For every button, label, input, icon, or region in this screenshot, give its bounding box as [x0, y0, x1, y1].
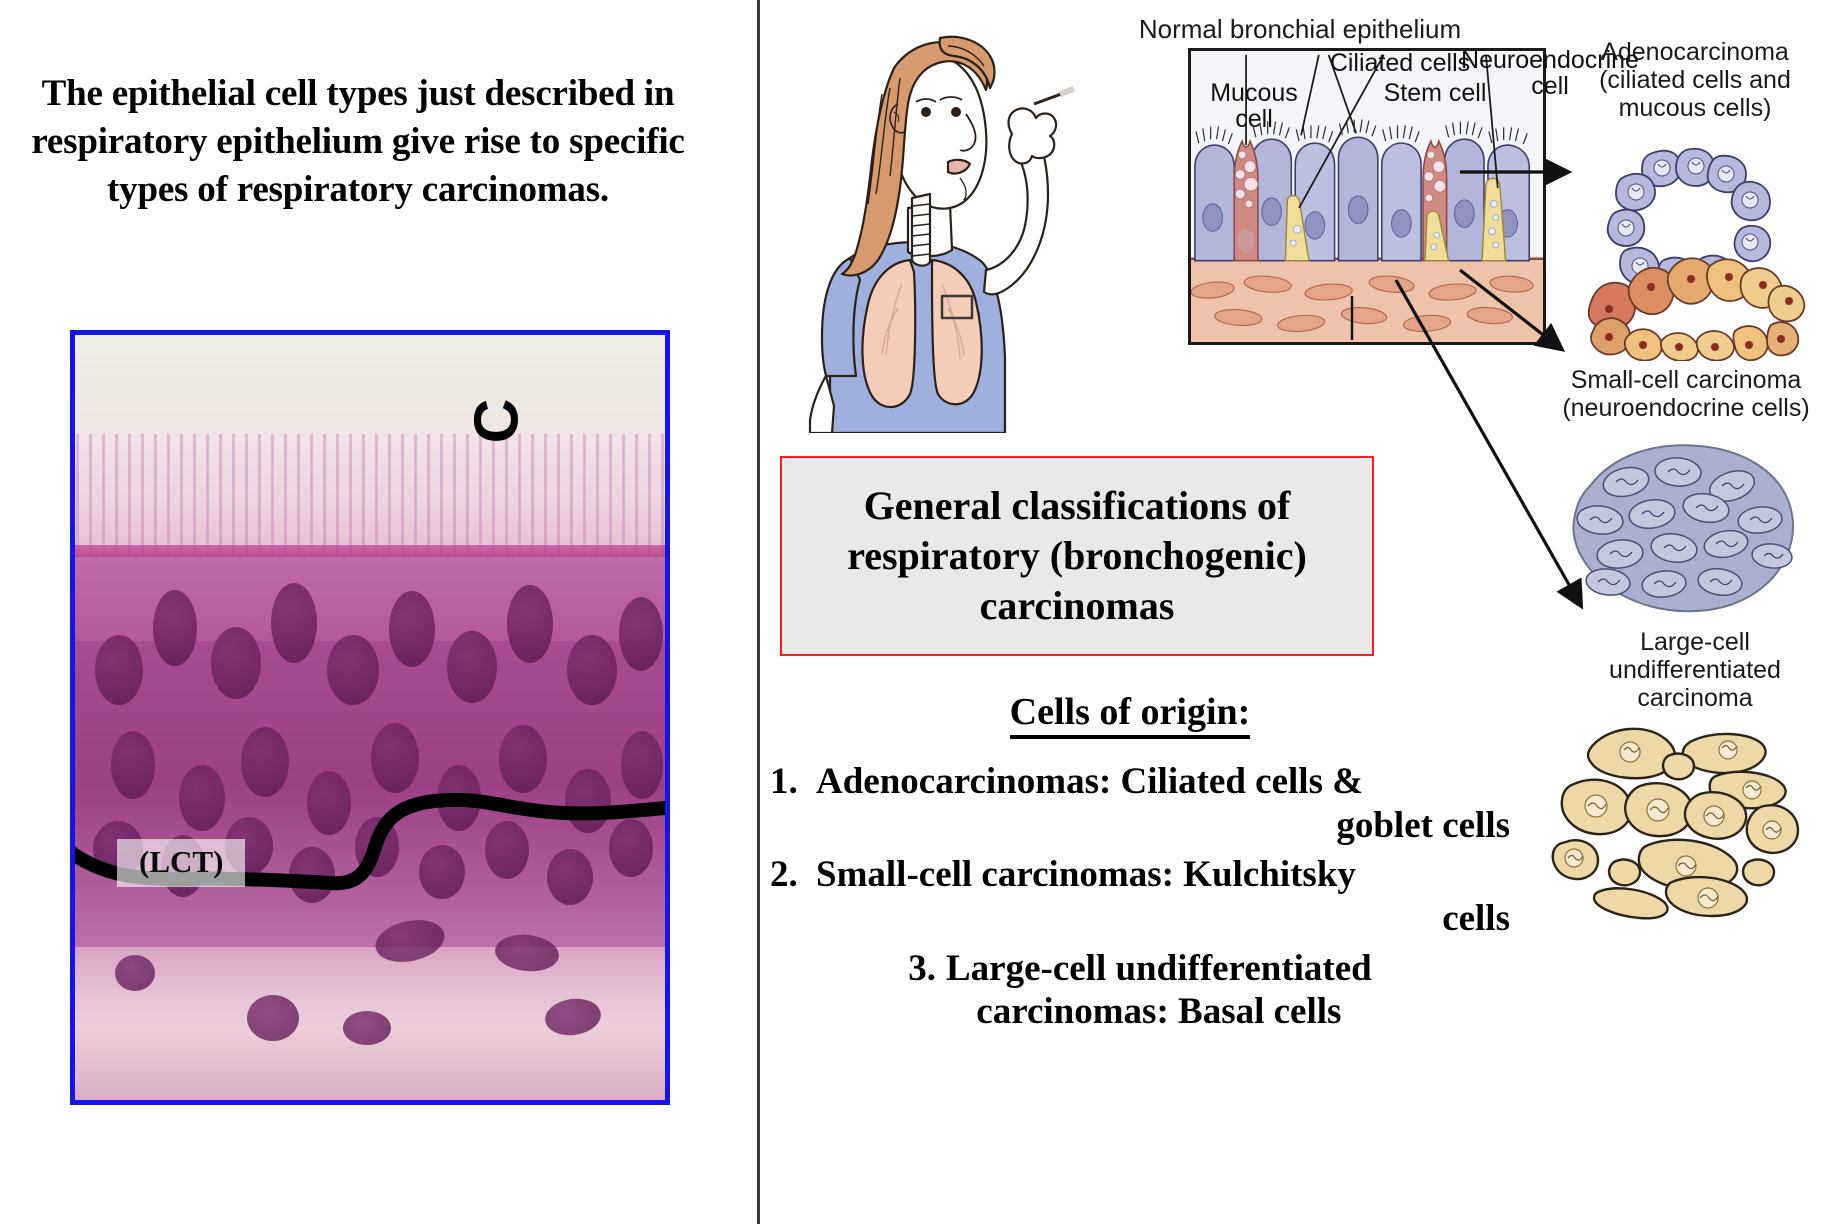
- smoking-woman-illustration: [790, 8, 1090, 433]
- adenocarcinoma-mucous-rosette: [1565, 253, 1815, 361]
- list-item-number: 2.: [770, 853, 816, 940]
- label-neuroendocrine-cell: Neuroendocrinecell: [1440, 47, 1660, 100]
- epithelial-nucleus: [307, 771, 351, 835]
- epithelial-nucleus: [95, 635, 143, 705]
- epithelial-nucleus: [565, 769, 611, 833]
- epithelial-nucleus: [271, 583, 317, 663]
- epithelial-nucleus: [389, 591, 435, 667]
- slide-canvas: The epithelial cell types just described…: [0, 0, 1822, 1224]
- epithelial-nucleus: [499, 725, 547, 793]
- lct-label: (LCT): [117, 839, 245, 887]
- list-item-line1: Large-cell undifferentiated: [946, 947, 1372, 991]
- lct-nucleus: [115, 955, 155, 991]
- cells-of-origin-list: 1. Adenocarcinomas: Ciliated cells & gob…: [770, 760, 1510, 1040]
- list-item: 2. Small-cell carcinomas: Kulchitsky cel…: [770, 853, 1510, 940]
- cells-of-origin-heading-text: Cells of origin:: [1010, 691, 1251, 739]
- list-item-number: 1.: [770, 760, 816, 847]
- epithelial-nucleus: [485, 821, 529, 879]
- epithelial-nucleus: [437, 765, 481, 831]
- label-large-cell-carcinoma: Large-cellundifferentiatedcarcinoma: [1590, 628, 1800, 712]
- list-item-line2: carcinomas: Basal cells: [946, 990, 1372, 1034]
- epithelial-nucleus: [179, 765, 225, 831]
- label-mucous-cell: Mucouscell: [1192, 80, 1316, 133]
- epithelial-nucleus: [211, 627, 261, 699]
- list-item-line2: cells: [816, 897, 1510, 941]
- classification-title-text: General classifications of respiratory (…: [782, 481, 1372, 631]
- epithelial-nucleus: [567, 635, 617, 705]
- micrograph-cilia-striations: [70, 434, 670, 556]
- epithelial-nucleus: [547, 849, 593, 905]
- cells-of-origin-heading: Cells of origin:: [780, 690, 1480, 734]
- list-item-number: 3.: [908, 947, 936, 1034]
- list-item-line2: goblet cells: [816, 804, 1510, 848]
- epithelial-nucleus: [241, 727, 289, 797]
- label-small-cell-carcinoma: Small-cell carcinoma(neuroendocrine cell…: [1550, 366, 1822, 422]
- large-cell-carcinoma-cluster: [1540, 720, 1810, 920]
- epithelial-nucleus: [507, 585, 553, 663]
- epithelial-nucleus: [447, 631, 497, 703]
- micrograph-lumen-layer: [70, 335, 670, 450]
- list-item: 1. Adenocarcinomas: Ciliated cells & gob…: [770, 760, 1510, 847]
- lct-nucleus: [343, 1011, 391, 1045]
- epithelial-nucleus: [371, 723, 419, 793]
- epithelial-nucleus: [327, 635, 379, 705]
- epithelial-nucleus: [111, 731, 155, 799]
- list-item: 3. Large-cell undifferentiated carcinoma…: [770, 947, 1510, 1034]
- epithelial-nucleus: [153, 590, 197, 666]
- epithelial-nucleus: [355, 817, 399, 877]
- right-panel: Normal bronchial epithelium: [760, 0, 1822, 1224]
- list-item-line1: Adenocarcinomas: Ciliated cells &: [816, 760, 1510, 804]
- epithelial-nucleus: [289, 847, 335, 903]
- lct-nucleus: [247, 995, 299, 1041]
- epithelial-nucleus: [609, 819, 653, 877]
- epithelial-nucleus: [619, 597, 663, 671]
- list-item-line1: Small-cell carcinomas: Kulchitsky: [816, 853, 1510, 897]
- epithelial-nucleus: [621, 731, 663, 799]
- cilia-c-marker: C: [466, 399, 528, 444]
- small-cell-carcinoma-cluster: [1560, 440, 1800, 615]
- left-panel: The epithelial cell types just described…: [0, 0, 757, 1224]
- epithelium-figure-title: Normal bronchial epithelium: [1090, 14, 1510, 45]
- classification-title-box: General classifications of respiratory (…: [780, 456, 1374, 656]
- histology-micrograph: C (LCT): [70, 330, 670, 1105]
- epithelial-nucleus: [419, 845, 465, 899]
- lead-paragraph: The epithelial cell types just described…: [8, 70, 708, 214]
